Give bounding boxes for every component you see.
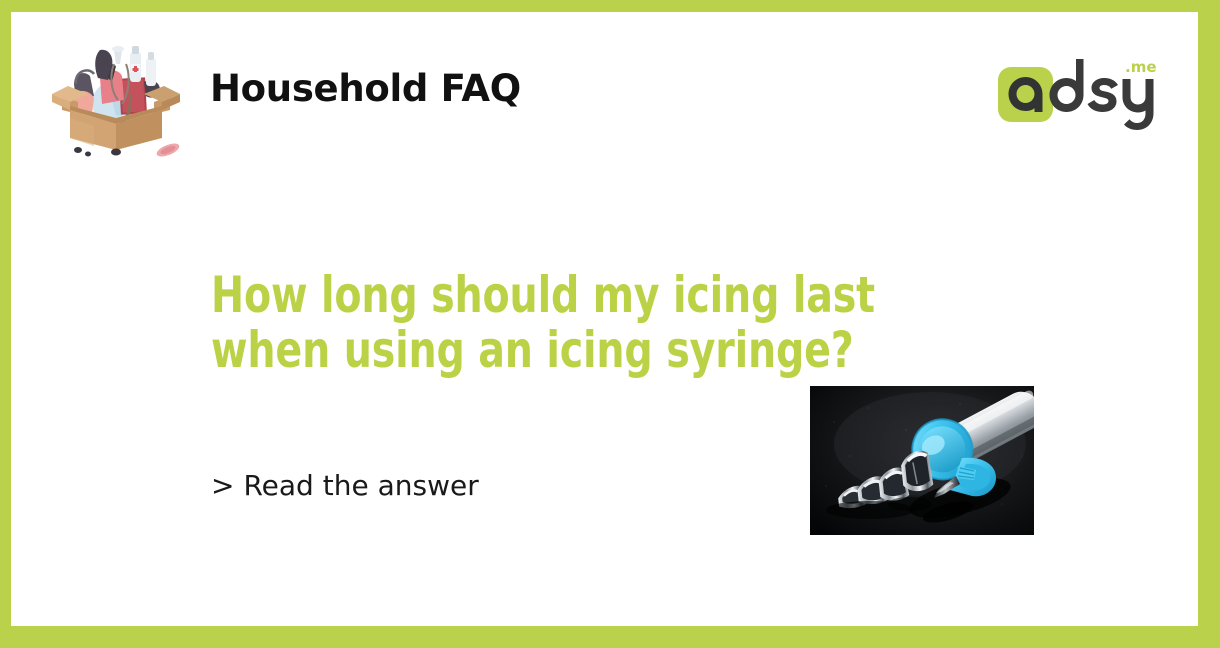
read-answer-link[interactable]: >Read the answer [211, 469, 479, 502]
question-heading: How long should my icing last when using… [211, 268, 977, 378]
question-line-1: How long should my icing last [211, 268, 977, 323]
page-title: Household FAQ [210, 67, 521, 110]
promo-card: Household FAQ .me How long should my ici… [0, 0, 1220, 648]
icing-syringe-photo [810, 386, 1034, 535]
household-box-illustration [48, 34, 184, 160]
card-canvas: Household FAQ .me How long should my ici… [11, 12, 1198, 626]
chevron-right-icon: > [211, 469, 234, 502]
read-answer-label: Read the answer [243, 469, 478, 502]
adsy-logo[interactable]: .me [998, 55, 1168, 135]
question-line-2: when using an icing syringe? [211, 323, 977, 378]
svg-text:.me: .me [1125, 58, 1157, 76]
